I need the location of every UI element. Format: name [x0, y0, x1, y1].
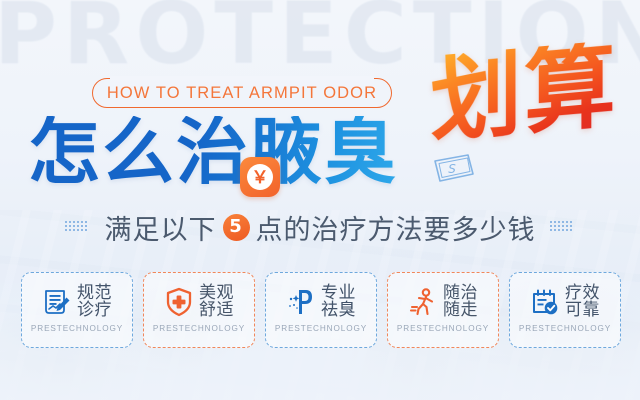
money-bill-icon: S	[432, 152, 476, 184]
card-title: 规范 诊疗	[77, 285, 112, 320]
feature-card-aesthetic-comfort[interactable]: 美观 舒适 PRESTECHNOLOGY	[143, 272, 255, 348]
feature-card-reliable-efficacy[interactable]: 疗效 可靠 PRESTECHNOLOGY	[509, 272, 621, 348]
card-title: 美观 舒适	[199, 285, 234, 320]
card-subtitle: PRESTECHNOLOGY	[153, 324, 245, 333]
feature-card-treat-and-go[interactable]: 随治 随走 PRESTECHNOLOGY	[387, 272, 499, 348]
dot-grid-left-icon	[65, 221, 91, 234]
subtitle-after: 点的治疗方法要多少钱	[256, 208, 536, 247]
eyebrow-label: HOW TO TREAT ARMPIT ODOR	[92, 78, 392, 108]
card-title: 随治 随走	[443, 285, 478, 320]
card-title-line2: 随走	[443, 302, 478, 319]
card-title-line2: 可靠	[565, 302, 600, 319]
subtitle-count-badge: 5	[223, 214, 250, 241]
page-title: 怎么治腋臭	[28, 116, 398, 188]
subtitle: 满足以下 5 点的治疗方法要多少钱	[105, 208, 536, 247]
card-row: 规范 诊疗	[42, 285, 112, 320]
shield-cross-icon	[164, 287, 194, 317]
card-row: 随治 随走	[408, 285, 478, 320]
yen-symbol: ￥	[247, 164, 273, 190]
card-title-line2: 舒适	[199, 302, 234, 319]
feature-card-standard-diagnosis[interactable]: 规范 诊疗 PRESTECHNOLOGY	[21, 272, 133, 348]
card-title-line2: 诊疗	[77, 302, 112, 319]
clipboard-check-icon	[530, 287, 560, 317]
card-row: 美观 舒适	[164, 285, 234, 320]
feature-card-list: 规范 诊疗 PRESTECHNOLOGY 美观 舒适	[21, 272, 621, 348]
card-subtitle: PRESTECHNOLOGY	[397, 324, 489, 333]
card-subtitle: PRESTECHNOLOGY	[275, 324, 367, 333]
card-row: 疗效 可靠	[530, 285, 600, 320]
card-title: 疗效 可靠	[565, 285, 600, 320]
subtitle-before: 满足以下	[105, 208, 217, 247]
card-title-line2: 祛臭	[321, 302, 356, 319]
feature-card-professional-deodorize[interactable]: 专业 祛臭 PRESTECHNOLOGY	[265, 272, 377, 348]
card-title: 专业 祛臭	[321, 285, 356, 320]
document-pencil-icon	[42, 287, 72, 317]
svg-text:S: S	[448, 162, 456, 176]
yen-badge: ￥	[240, 157, 280, 197]
card-subtitle: PRESTECHNOLOGY	[31, 324, 123, 333]
card-row: 专业 祛臭	[286, 285, 356, 320]
dot-grid-right-icon	[550, 221, 576, 234]
eyebrow-pill: HOW TO TREAT ARMPIT ODOR	[92, 78, 392, 108]
calligraphy-text: 划算	[430, 40, 617, 149]
card-subtitle: PRESTECHNOLOGY	[519, 324, 611, 333]
walking-person-icon	[408, 287, 438, 317]
sparkle-p-icon	[286, 287, 316, 317]
promo-banner: PROTECTION HOW TO TREAT ARMPIT ODOR 划算 怎…	[0, 0, 640, 400]
subtitle-row: 满足以下 5 点的治疗方法要多少钱	[0, 206, 640, 248]
